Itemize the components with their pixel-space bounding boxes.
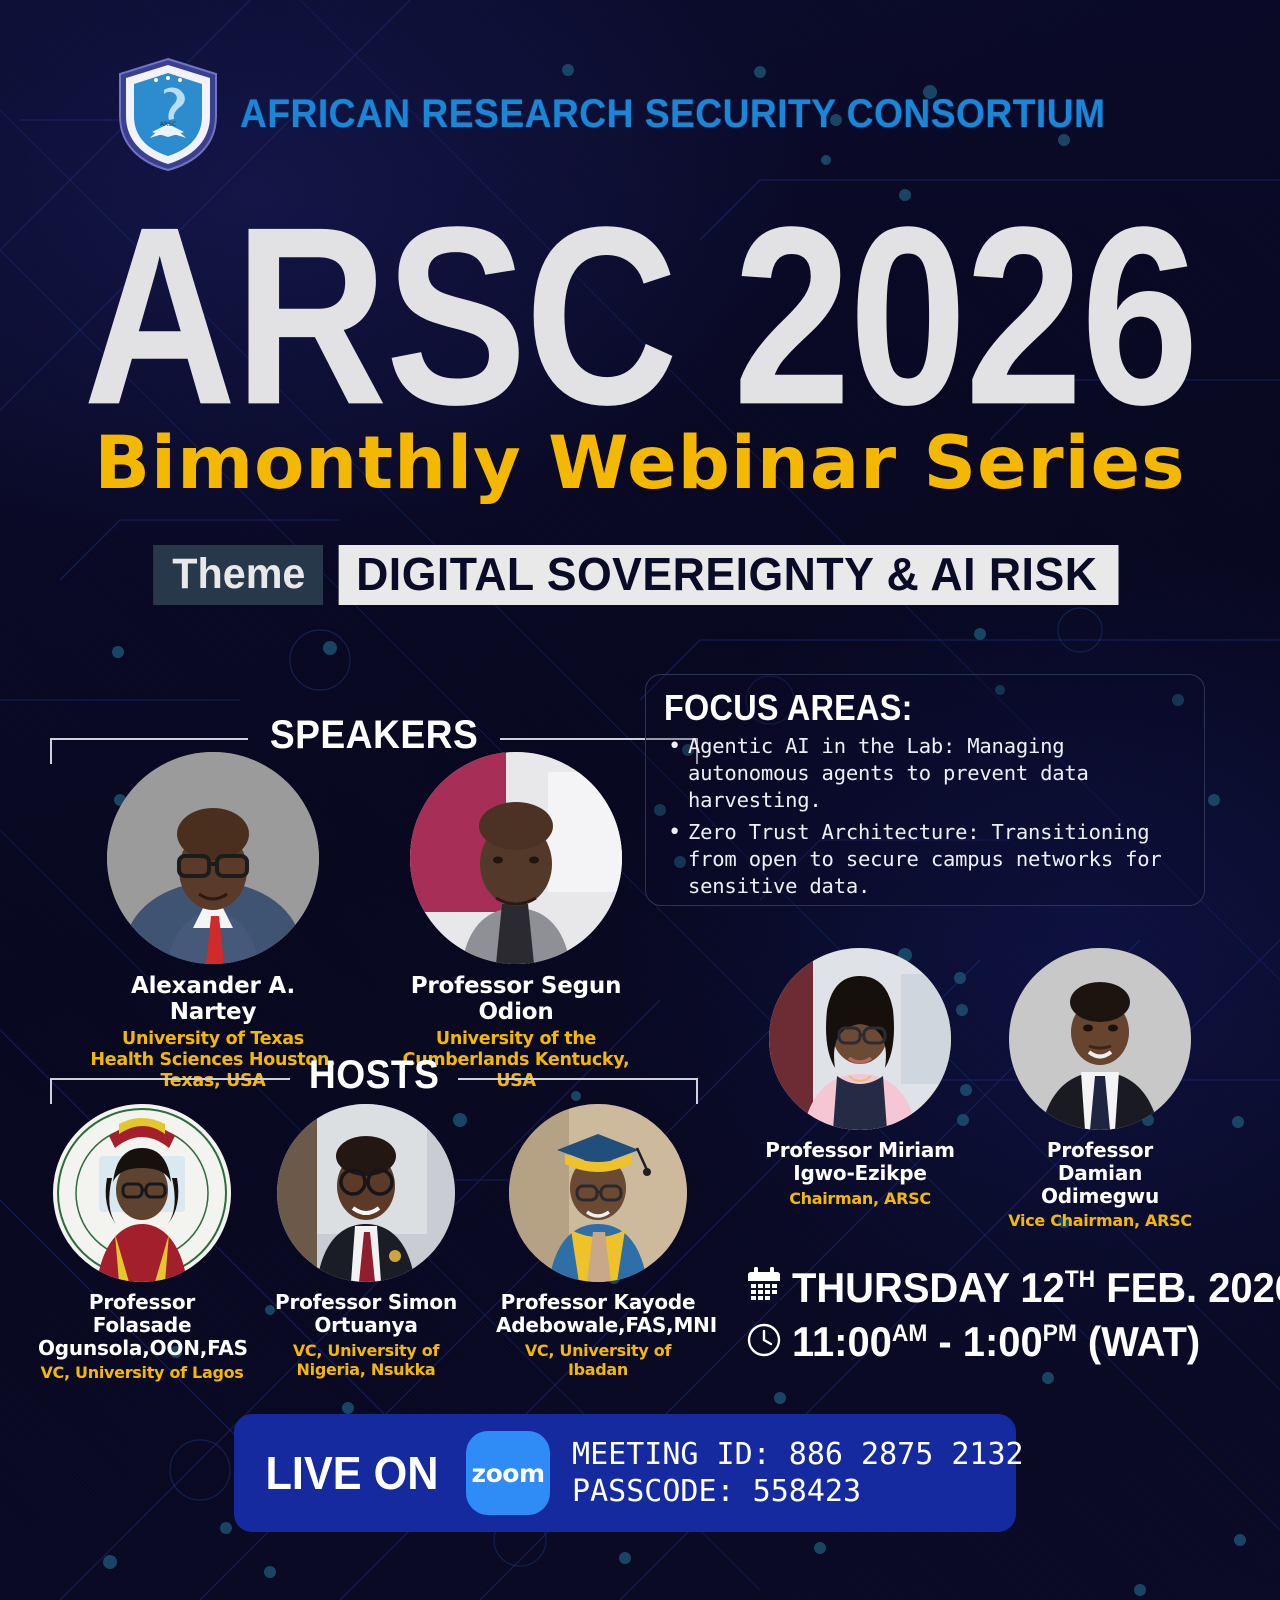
calendar-icon [746, 1267, 782, 1310]
organization-name: AFRICAN RESEARCH SECURITY CONSORTIUM [240, 92, 1105, 137]
event-time: 11:00AM - 1:00PM (WAT) [792, 1318, 1200, 1366]
event-time-row: 11:00AM - 1:00PM (WAT) [746, 1318, 1280, 1366]
focus-item: Agentic AI in the Lab: Managing autonomo… [664, 733, 1190, 814]
avatar [410, 752, 622, 964]
shield-logo-icon: ARSC [110, 54, 226, 174]
webinar-flyer: ARSC AFRICAN RESEARCH SECURITY CONSORTIU… [0, 0, 1280, 1600]
official-card: Professor Damian Odimegwu Vice Chairman,… [1002, 948, 1198, 1231]
focus-item: Zero Trust Architecture: Transitioning f… [664, 819, 1190, 900]
theme-banner: Theme DIGITAL SOVEREIGNTY & AI RISK [150, 545, 1131, 605]
speaker-name: Professor Segun Odion [396, 973, 636, 1025]
host-name: Professor Kayode Adebowale,FAS,MNI [496, 1291, 700, 1337]
zoom-logo-icon: zoom [466, 1431, 550, 1515]
host-affiliation: VC, University of Lagos [38, 1363, 246, 1382]
theme-label: Theme [153, 545, 323, 605]
focus-areas-heading: FOCUS AREAS: [664, 687, 1137, 729]
passcode: PASSCODE: 558423 [572, 1474, 1024, 1509]
page-title: ARSC 2026 [0, 196, 1280, 440]
speaker-affiliation: University of the Cumberlands Kentucky, … [396, 1029, 636, 1092]
event-date: THURSDAY 12TH FEB. 2026. [792, 1264, 1280, 1312]
official-card: Professor Miriam Igwo-Ezikpe Chairman, A… [762, 948, 958, 1208]
host-affiliation: VC, University of Nigeria, Nsukka [268, 1341, 464, 1379]
host-affiliation: VC, University of Ibadan [496, 1341, 700, 1379]
avatar [107, 752, 319, 964]
avatar [1009, 948, 1191, 1130]
speaker-card: Alexander A. Nartey University of Texas … [88, 752, 338, 1092]
event-datetime: THURSDAY 12TH FEB. 2026. 11:00AM - 1:00P… [746, 1264, 1280, 1372]
live-on-label: LIVE ON [266, 1446, 439, 1500]
avatar [277, 1104, 455, 1282]
zoom-join-banner[interactable]: LIVE ON zoom MEETING ID: 886 2875 2132 P… [234, 1414, 1016, 1532]
official-name: Professor Miriam Igwo-Ezikpe [762, 1139, 958, 1185]
meeting-id: MEETING ID: 886 2875 2132 [572, 1437, 1024, 1472]
avatar [509, 1104, 687, 1282]
speaker-card: Professor Segun Odion University of the … [396, 752, 636, 1092]
zoom-logo-text: zoom [472, 1459, 545, 1488]
page-subtitle: Bimonthly Webinar Series [0, 427, 1280, 500]
bracket-line-left [50, 738, 248, 740]
host-name: Professor Simon Ortuanya [268, 1291, 464, 1337]
zoom-credentials: MEETING ID: 886 2875 2132 PASSCODE: 5584… [572, 1437, 1024, 1509]
official-role: Vice Chairman, ARSC [1002, 1211, 1198, 1230]
host-card: Professor Folasade Ogunsola,OON,FAS VC, … [38, 1104, 246, 1383]
host-name: Professor Folasade Ogunsola,OON,FAS [38, 1291, 246, 1359]
host-card: Professor Simon Ortuanya VC, University … [268, 1104, 464, 1379]
speaker-name: Alexander A. Nartey [88, 973, 338, 1025]
avatar [769, 948, 951, 1130]
event-date-row: THURSDAY 12TH FEB. 2026. [746, 1264, 1280, 1312]
host-card: Professor Kayode Adebowale,FAS,MNI VC, U… [496, 1104, 700, 1379]
focus-areas-list: Agentic AI in the Lab: Managing autonomo… [664, 733, 1190, 900]
brand-header: ARSC AFRICAN RESEARCH SECURITY CONSORTIU… [0, 54, 1280, 174]
clock-icon [746, 1322, 782, 1363]
theme-value: DIGITAL SOVEREIGNTY & AI RISK [338, 545, 1118, 605]
focus-areas-panel: FOCUS AREAS: Agentic AI in the Lab: Mana… [645, 674, 1205, 906]
avatar [53, 1104, 231, 1282]
official-name: Professor Damian Odimegwu [1002, 1139, 1198, 1207]
speaker-affiliation: University of Texas Health Sciences Hous… [88, 1029, 338, 1092]
svg-text:ARSC: ARSC [160, 121, 176, 128]
official-role: Chairman, ARSC [762, 1189, 958, 1208]
